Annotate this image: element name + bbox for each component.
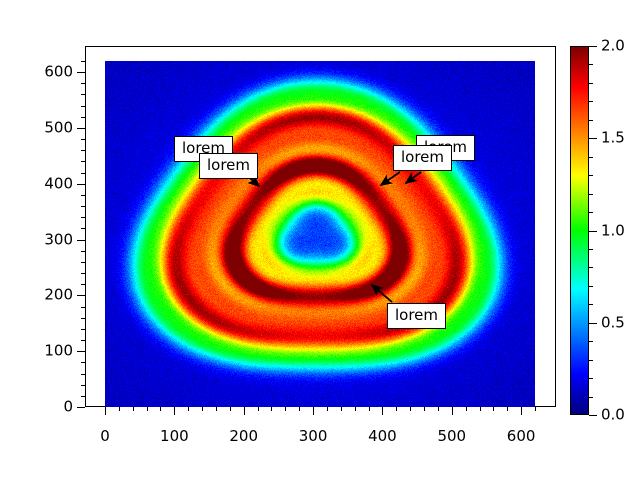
colorbar-minor-tick [589,120,593,121]
x-axis-minor-tick [202,407,203,411]
colorbar-minor-tick [589,194,593,195]
y-axis-tick-label: 100 [44,344,73,359]
y-axis-major-tick [77,184,85,185]
colorbar [570,46,589,415]
x-axis-minor-tick [396,407,397,411]
y-axis-minor-tick [81,94,85,95]
y-axis-tick-label: 500 [44,120,73,135]
colorbar-tick-label: 1.0 [601,223,625,238]
x-axis-minor-tick [466,407,467,411]
x-axis-minor-tick [285,407,286,411]
y-axis-minor-tick [81,150,85,151]
y-axis-minor-tick [81,340,85,341]
y-axis-minor-tick [81,329,85,330]
y-axis-minor-tick [81,117,85,118]
x-axis-minor-tick [216,407,217,411]
y-axis-minor-tick [81,173,85,174]
colorbar-minor-tick [589,101,593,102]
colorbar-minor-tick [589,267,593,268]
x-axis-minor-tick [119,407,120,411]
colorbar-minor-tick [589,286,593,287]
y-axis-minor-tick [81,161,85,162]
colorbar-minor-tick [589,341,593,342]
x-axis-minor-tick [327,407,328,411]
colorbar-major-tick [589,231,597,232]
x-axis-minor-tick [438,407,439,411]
x-axis-major-tick [382,407,383,415]
x-axis-minor-tick [410,407,411,411]
y-axis-major-tick [77,351,85,352]
x-axis-minor-tick [341,407,342,411]
x-axis-major-tick [244,407,245,415]
y-axis-minor-tick [81,362,85,363]
x-axis-minor-tick [369,407,370,411]
x-axis-major-tick [105,407,106,415]
colorbar-major-tick [589,138,597,139]
figure-canvas: 0100200300400500600 0100200300400500600 … [0,0,640,480]
x-axis-major-tick [313,407,314,415]
x-axis-minor-tick [355,407,356,411]
x-axis-minor-tick [507,407,508,411]
x-axis-tick-label: 300 [299,429,328,444]
y-axis-minor-tick [81,106,85,107]
annotation-label-annot-5[interactable]: lorem [387,303,446,329]
y-axis-minor-tick [81,262,85,263]
colorbar-tick-label: 0.5 [601,315,625,330]
annotation-label-annot-2[interactable]: lorem [199,153,258,179]
y-axis-minor-tick [81,374,85,375]
colorbar-tick-label: 1.5 [601,131,625,146]
x-axis-minor-tick [258,407,259,411]
colorbar-major-tick [589,323,597,324]
y-axis-minor-tick [81,83,85,84]
y-axis-tick-label: 200 [44,288,73,303]
colorbar-major-tick [589,415,597,416]
x-axis-tick-label: 400 [368,429,397,444]
x-axis-minor-tick [133,407,134,411]
y-axis-minor-tick [81,273,85,274]
x-axis-minor-tick [271,407,272,411]
x-axis-minor-tick [160,407,161,411]
colorbar-gradient [571,47,588,414]
y-axis-minor-tick [81,284,85,285]
y-axis-minor-tick [81,228,85,229]
y-axis-tick-label: 600 [44,65,73,80]
colorbar-minor-tick [589,378,593,379]
x-axis-tick-label: 500 [437,429,466,444]
y-axis-minor-tick [81,217,85,218]
colorbar-major-tick [589,46,597,47]
y-axis-minor-tick [81,195,85,196]
colorbar-tick-label: 0.0 [601,408,625,423]
y-axis-minor-tick [81,206,85,207]
y-axis-major-tick [77,295,85,296]
x-axis-minor-tick [535,407,536,411]
x-axis-major-tick [521,407,522,415]
annotation-label-annot-4[interactable]: lorem [393,145,452,171]
colorbar-minor-tick [589,83,593,84]
y-axis-tick-label: 0 [63,400,73,415]
x-axis-tick-label: 0 [100,429,110,444]
y-axis-major-tick [77,128,85,129]
colorbar-minor-tick [589,64,593,65]
x-axis-tick-label: 600 [507,429,536,444]
x-axis-minor-tick [480,407,481,411]
x-axis-tick-label: 200 [229,429,258,444]
y-axis-minor-tick [81,251,85,252]
colorbar-minor-tick [589,360,593,361]
y-axis-minor-tick [81,61,85,62]
x-axis-minor-tick [147,407,148,411]
colorbar-minor-tick [589,304,593,305]
colorbar-tick-label: 2.0 [601,39,625,54]
colorbar-minor-tick [589,397,593,398]
x-axis-minor-tick [188,407,189,411]
y-axis-minor-tick [81,307,85,308]
x-axis-minor-tick [424,407,425,411]
x-axis-minor-tick [230,407,231,411]
colorbar-minor-tick [589,157,593,158]
colorbar-minor-tick [589,212,593,213]
x-axis-tick-label: 100 [160,429,189,444]
x-axis-minor-tick [493,407,494,411]
heatmap-image [105,61,535,407]
y-axis-major-tick [77,240,85,241]
y-axis-major-tick [77,72,85,73]
y-axis-tick-label: 400 [44,176,73,191]
y-axis-minor-tick [81,318,85,319]
colorbar-minor-tick [589,249,593,250]
y-axis-major-tick [77,407,85,408]
x-axis-major-tick [452,407,453,415]
y-axis-tick-label: 300 [44,232,73,247]
y-axis-minor-tick [81,385,85,386]
y-axis-minor-tick [81,396,85,397]
x-axis-minor-tick [299,407,300,411]
x-axis-major-tick [174,407,175,415]
y-axis-minor-tick [81,139,85,140]
colorbar-minor-tick [589,175,593,176]
